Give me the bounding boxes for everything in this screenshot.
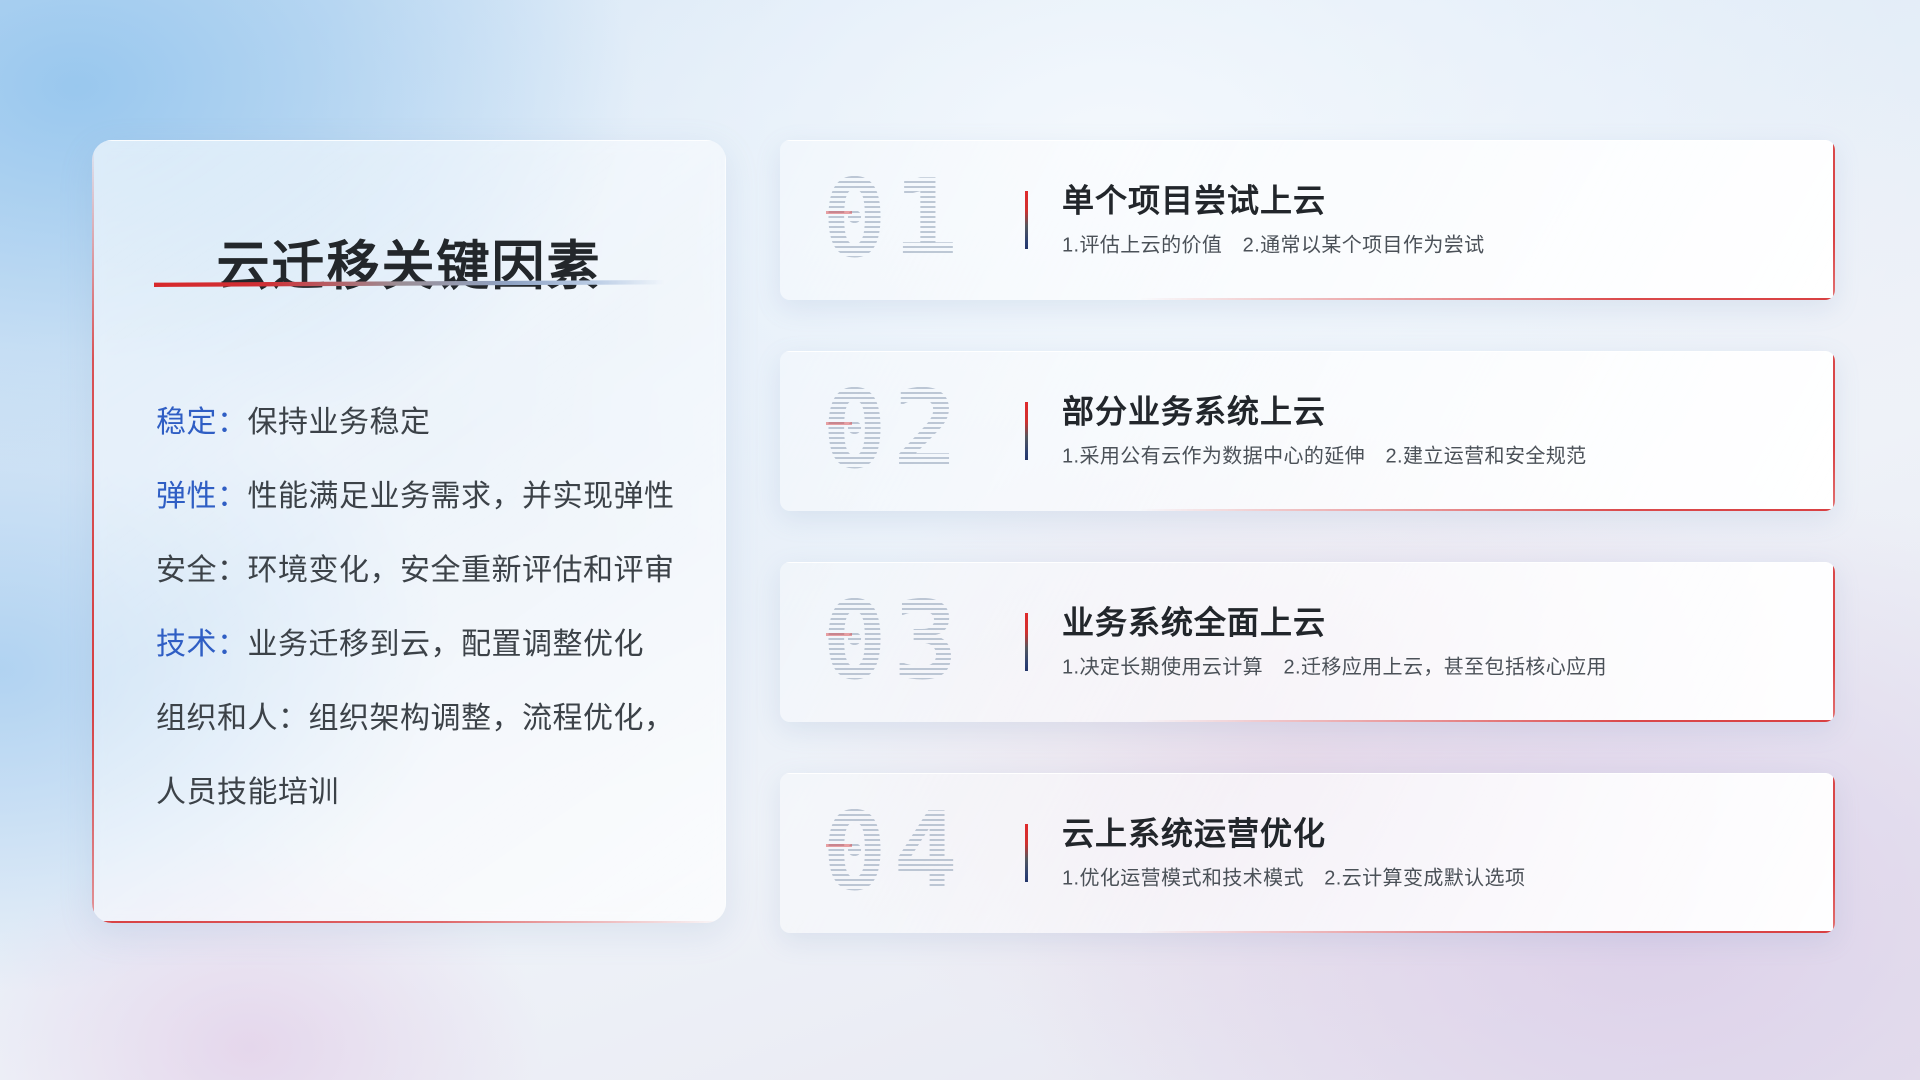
card-title: 部分业务系统上云 bbox=[1062, 394, 1795, 431]
card-description: 1.评估上云的价值 2.通常以某个项目作为尝试 bbox=[1062, 233, 1795, 257]
card-title: 单个项目尝试上云 bbox=[1062, 183, 1795, 220]
card-bottom-accent-border bbox=[1139, 931, 1835, 933]
factor-label: 稳定： bbox=[156, 406, 248, 439]
card-description: 1.决定长期使用云计算 2.迁移应用上云，甚至包括核心应用 bbox=[1062, 655, 1795, 679]
card-right-accent-border bbox=[1833, 140, 1835, 300]
list-item: 弹性：性能满足业务需求，并实现弹性 bbox=[156, 482, 686, 512]
card-top-edge bbox=[780, 773, 1835, 774]
card-accent-divider bbox=[1025, 613, 1028, 671]
key-factors-list: 稳定：保持业务稳定 弹性：性能满足业务需求，并实现弹性 安全：环境变化，安全重新… bbox=[156, 378, 686, 852]
factor-text: 组织架构调整，流程优化， bbox=[309, 702, 675, 735]
card-top-edge bbox=[780, 140, 1835, 141]
factor-text: 环境变化，安全重新评估和评审 bbox=[248, 554, 675, 587]
step-number-03: 03 bbox=[822, 588, 964, 696]
card-accent-divider bbox=[1025, 191, 1028, 249]
card-accent-divider bbox=[1025, 824, 1028, 882]
card-top-edge bbox=[780, 351, 1835, 352]
card-description: 1.优化运营模式和技术模式 2.云计算变成默认选项 bbox=[1062, 866, 1795, 890]
panel-bottom-accent-border bbox=[92, 921, 726, 923]
card-description: 1.采用公有云作为数据中心的延伸 2.建立运营和安全规范 bbox=[1062, 444, 1795, 468]
factor-label: 安全： bbox=[156, 554, 248, 587]
list-item: 技术：业务迁移到云，配置调整优化 bbox=[156, 630, 686, 660]
stage-card-01[interactable]: 01 单个项目尝试上云 1.评估上云的价值 2.通常以某个项目作为尝试 bbox=[780, 140, 1835, 300]
factor-label: 组织和人： bbox=[156, 702, 309, 735]
card-text-block: 业务系统全面上云 1.决定长期使用云计算 2.迁移应用上云，甚至包括核心应用 bbox=[1062, 605, 1795, 680]
card-text-block: 单个项目尝试上云 1.评估上云的价值 2.通常以某个项目作为尝试 bbox=[1062, 183, 1795, 258]
stage-card-03[interactable]: 03 业务系统全面上云 1.决定长期使用云计算 2.迁移应用上云，甚至包括核心应… bbox=[780, 562, 1835, 722]
stage-card-04[interactable]: 04 云上系统运营优化 1.优化运营模式和技术模式 2.云计算变成默认选项 bbox=[780, 773, 1835, 933]
card-bottom-accent-border bbox=[1139, 509, 1835, 511]
factor-text: 人员技能培训 bbox=[156, 776, 339, 809]
card-right-accent-border bbox=[1833, 351, 1835, 511]
step-number-01: 01 bbox=[822, 166, 964, 274]
panel-top-edge bbox=[92, 140, 726, 141]
card-accent-divider bbox=[1025, 402, 1028, 460]
card-title: 云上系统运营优化 bbox=[1062, 816, 1795, 853]
factor-label: 弹性： bbox=[156, 480, 248, 513]
card-right-accent-border bbox=[1833, 773, 1835, 933]
key-factors-panel: 云迁移关键因素 稳定：保持业务稳定 弹性：性能满足业务需求，并实现弹性 安全：环… bbox=[92, 140, 726, 923]
factor-text: 性能满足业务需求，并实现弹性 bbox=[248, 480, 675, 513]
factor-label: 技术： bbox=[156, 628, 248, 661]
list-item: 组织和人：组织架构调整，流程优化， bbox=[156, 704, 686, 734]
step-number-04: 04 bbox=[822, 799, 964, 907]
page-title: 云迁移关键因素 bbox=[92, 224, 726, 300]
step-number-02: 02 bbox=[822, 377, 964, 485]
list-item: 人员技能培训 bbox=[156, 778, 686, 808]
factor-text: 业务迁移到云，配置调整优化 bbox=[248, 628, 645, 661]
card-top-edge bbox=[780, 562, 1835, 563]
card-bottom-accent-border bbox=[1139, 298, 1835, 300]
list-item: 安全：环境变化，安全重新评估和评审 bbox=[156, 556, 686, 586]
card-text-block: 云上系统运营优化 1.优化运营模式和技术模式 2.云计算变成默认选项 bbox=[1062, 816, 1795, 891]
list-item: 稳定：保持业务稳定 bbox=[156, 408, 686, 438]
card-bottom-accent-border bbox=[1139, 720, 1835, 722]
card-right-accent-border bbox=[1833, 562, 1835, 722]
card-text-block: 部分业务系统上云 1.采用公有云作为数据中心的延伸 2.建立运营和安全规范 bbox=[1062, 394, 1795, 469]
factor-text: 保持业务稳定 bbox=[248, 406, 431, 439]
stage-card-02[interactable]: 02 部分业务系统上云 1.采用公有云作为数据中心的延伸 2.建立运营和安全规范 bbox=[780, 351, 1835, 511]
card-title: 业务系统全面上云 bbox=[1062, 605, 1795, 642]
